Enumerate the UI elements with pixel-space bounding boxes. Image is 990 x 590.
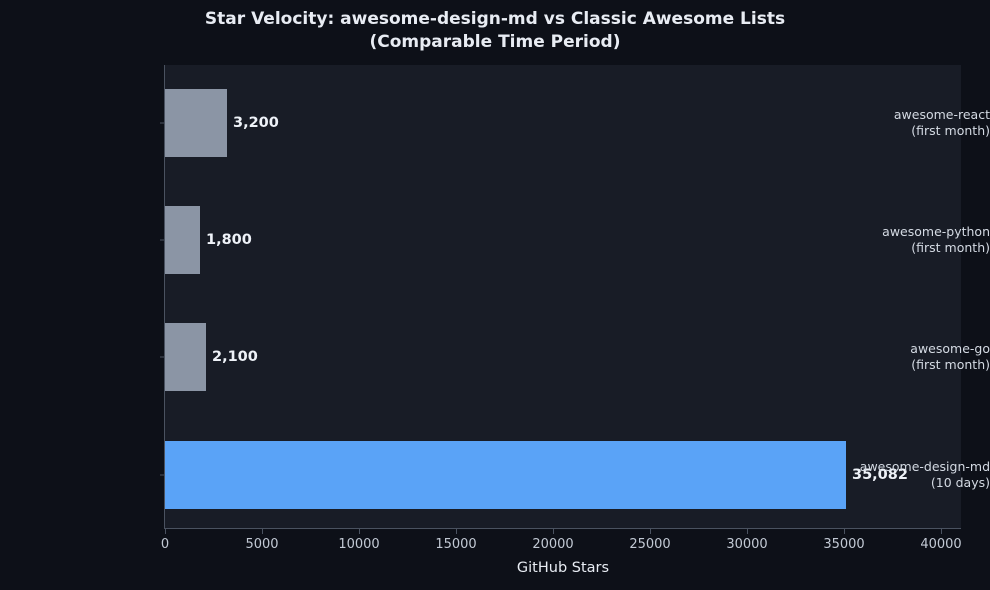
x-tick-label-20000: 20000	[532, 537, 573, 552]
x-tick-mark-0	[165, 529, 166, 534]
chart-title-line-1: Star Velocity: awesome-design-md vs Clas…	[205, 9, 785, 29]
bar-awesome-react[interactable]	[165, 89, 227, 157]
y-tick-mark-awesome-react	[160, 123, 165, 124]
x-tick-mark-20000	[553, 529, 554, 534]
x-tick-mark-25000	[650, 529, 651, 534]
x-tick-label-0: 0	[161, 537, 169, 552]
y-tick-label-awesome-python: awesome-python (first month)	[835, 224, 990, 256]
y-tick-name-awesome-go: awesome-go	[910, 341, 990, 356]
y-tick-name-awesome-react: awesome-react	[894, 107, 990, 122]
bar-value-awesome-go: 2,100	[212, 349, 258, 365]
y-tick-period-awesome-go: (first month)	[835, 357, 990, 373]
x-tick-label-10000: 10000	[338, 537, 379, 552]
x-tick-label-15000: 15000	[435, 537, 476, 552]
chart-figure: Star Velocity: awesome-design-md vs Clas…	[0, 0, 990, 590]
x-tick-label-40000: 40000	[920, 537, 961, 552]
bar-awesome-python[interactable]	[165, 206, 200, 274]
x-tick-mark-40000	[941, 529, 942, 534]
y-tick-period-awesome-python: (first month)	[835, 240, 990, 256]
y-tick-name-awesome-design-md: awesome-design-md	[860, 459, 990, 474]
bar-value-awesome-python: 1,800	[206, 232, 252, 248]
y-tick-mark-awesome-go	[160, 357, 165, 358]
y-tick-label-awesome-design-md: awesome-design-md (10 days)	[835, 459, 990, 491]
x-tick-label-30000: 30000	[726, 537, 767, 552]
x-tick-mark-5000	[262, 529, 263, 534]
chart-title: Star Velocity: awesome-design-md vs Clas…	[0, 8, 990, 54]
x-tick-mark-15000	[456, 529, 457, 534]
chart-title-line-2: (Comparable Time Period)	[0, 31, 990, 54]
x-axis-spine	[165, 528, 961, 529]
bar-awesome-design-md[interactable]	[165, 441, 846, 509]
x-tick-label-25000: 25000	[629, 537, 670, 552]
y-tick-period-awesome-react: (first month)	[835, 123, 990, 139]
bar-awesome-go[interactable]	[165, 323, 206, 391]
x-tick-mark-30000	[747, 529, 748, 534]
x-axis-label: GitHub Stars	[165, 560, 961, 576]
x-tick-label-35000: 35000	[823, 537, 864, 552]
y-tick-period-awesome-design-md: (10 days)	[835, 475, 990, 491]
x-tick-mark-10000	[359, 529, 360, 534]
y-tick-label-awesome-go: awesome-go (first month)	[835, 341, 990, 373]
y-tick-mark-awesome-python	[160, 240, 165, 241]
y-tick-name-awesome-python: awesome-python	[882, 224, 990, 239]
bar-value-awesome-react: 3,200	[233, 115, 279, 131]
x-tick-mark-35000	[844, 529, 845, 534]
y-tick-label-awesome-react: awesome-react (first month)	[835, 107, 990, 139]
x-tick-label-5000: 5000	[245, 537, 278, 552]
y-tick-mark-awesome-design-md	[160, 475, 165, 476]
